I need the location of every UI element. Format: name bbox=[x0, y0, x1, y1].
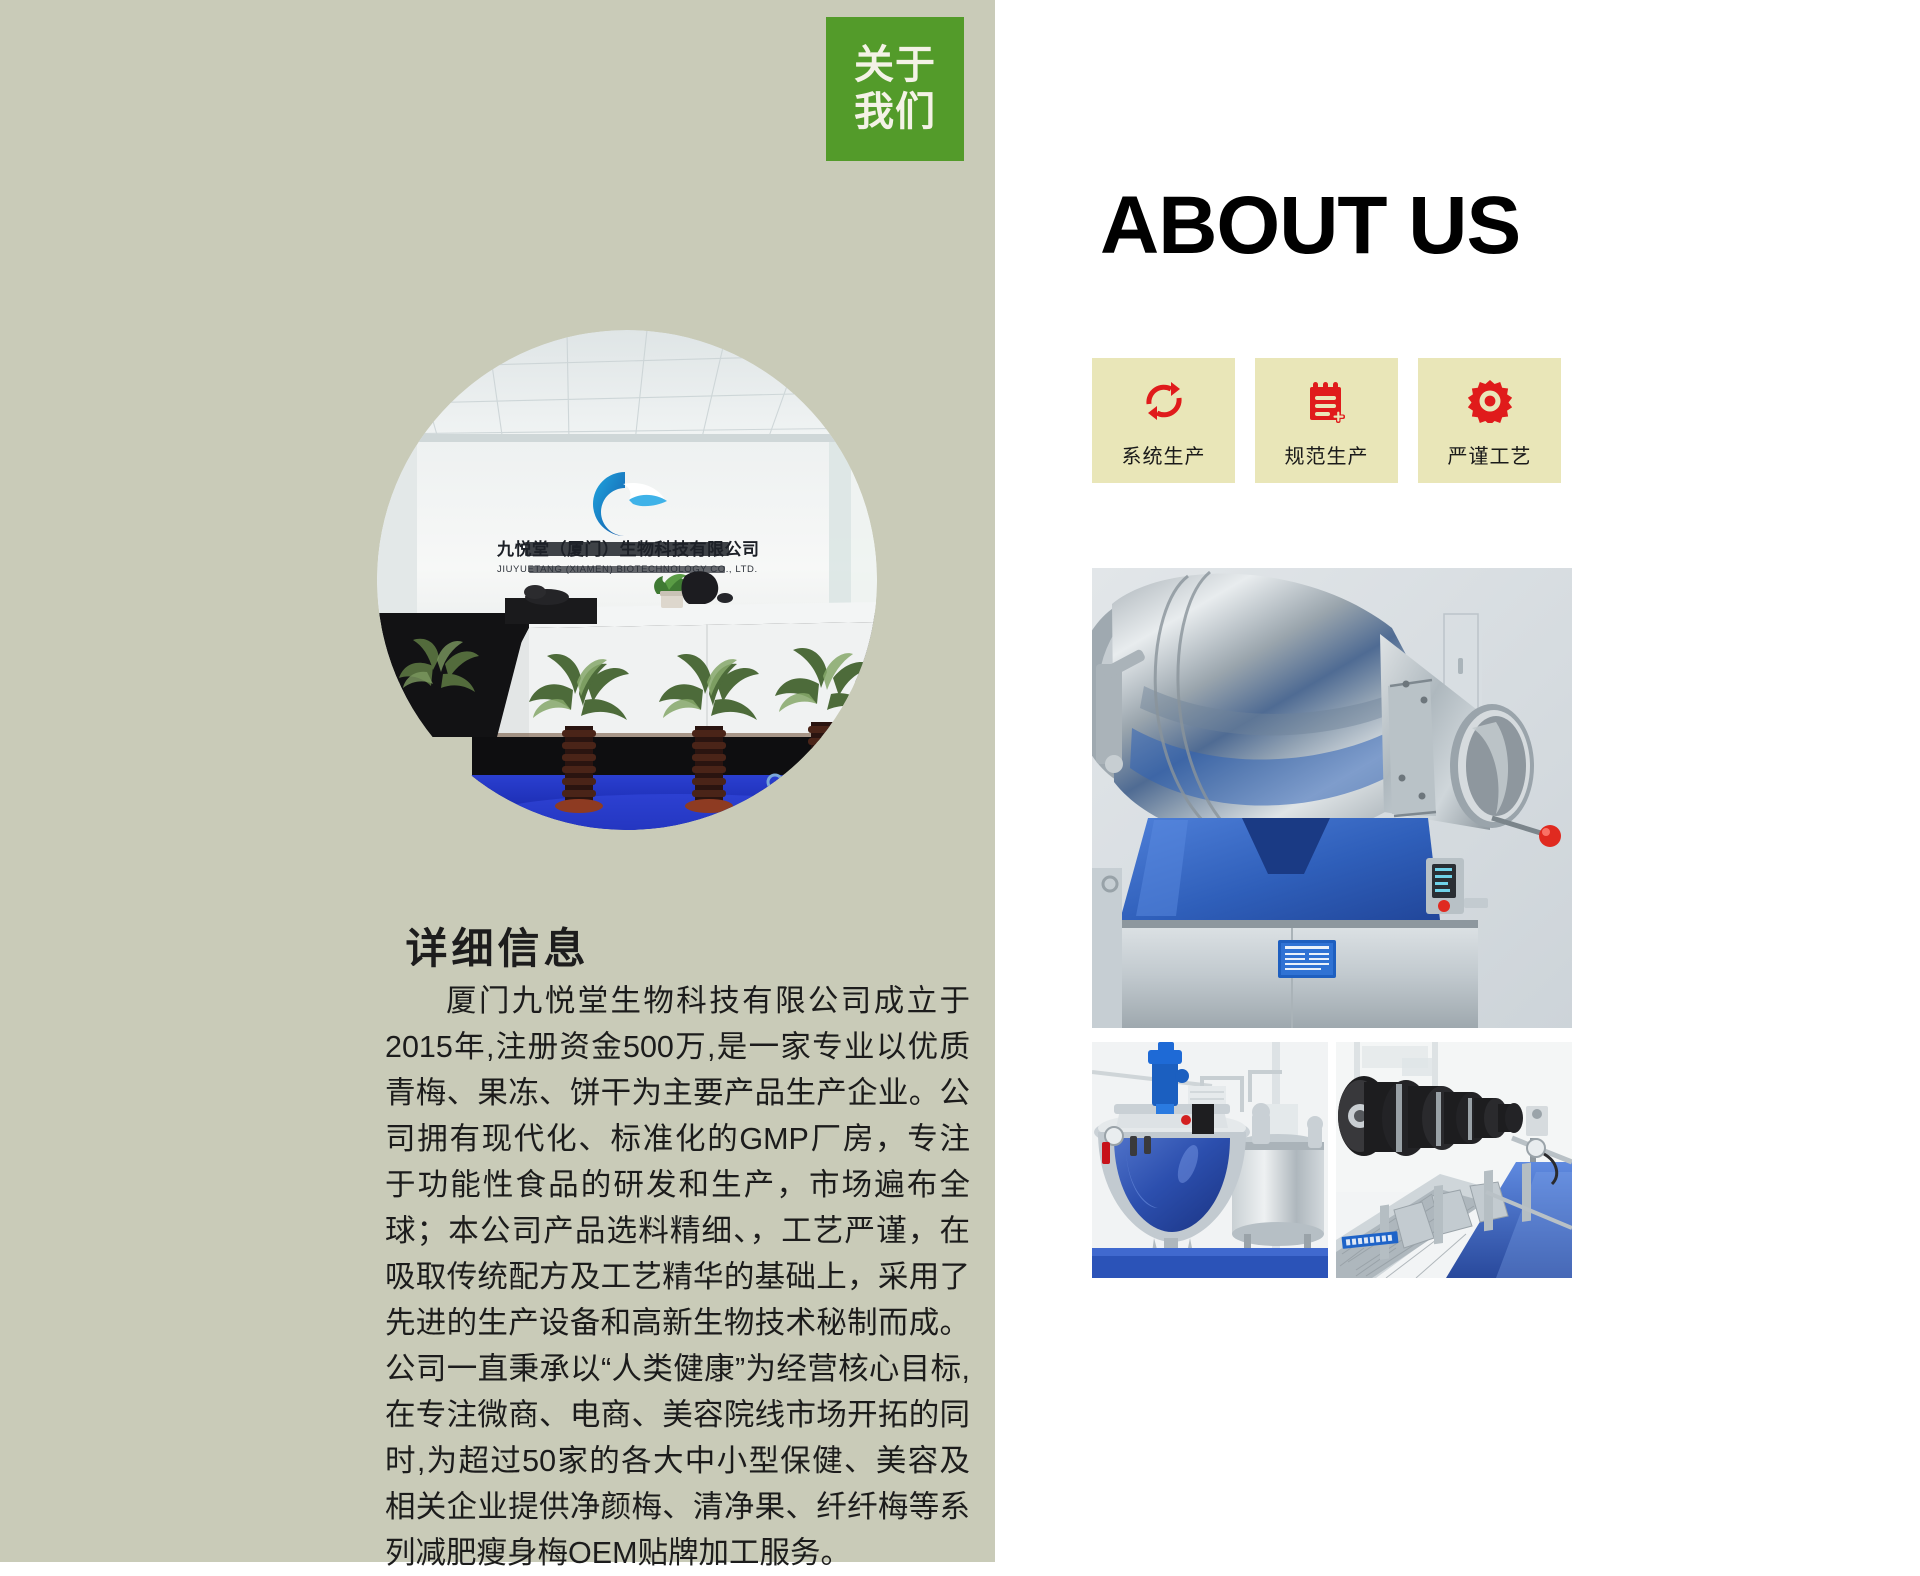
company-description-text: 厦门九悦堂生物科技有限公司成立于2015年,注册资金500万,是一家专业以优质青… bbox=[385, 978, 970, 1576]
stainless-steel-mixer-photo bbox=[1092, 568, 1572, 1028]
about-tag-line1: 关于 bbox=[854, 42, 936, 89]
tank-photo-graphic bbox=[1092, 1042, 1328, 1278]
about-us-title: ABOUT US bbox=[1100, 185, 1520, 267]
office-reception-photo: 九悦堂（厦门）生物科技有限公司 JIUYUETANG (XIAMEN) BIOT… bbox=[377, 330, 877, 830]
feature-badge-systematic-production[interactable]: 系统生产 bbox=[1092, 358, 1235, 483]
blue-mixing-tank-photo bbox=[1092, 1042, 1328, 1278]
about-us-tag-cn: 关于 我们 bbox=[826, 17, 964, 161]
feature-label-0: 系统生产 bbox=[1122, 440, 1206, 469]
conveyor-drying-line-photo bbox=[1336, 1042, 1572, 1278]
feature-badge-standard-production[interactable]: 规范生产 bbox=[1255, 358, 1398, 483]
detail-info-heading: 详细信息 bbox=[0, 915, 995, 976]
reception-photo-graphic bbox=[377, 330, 877, 830]
gear-icon bbox=[1465, 376, 1515, 426]
feature-badges-row: 系统生产 bbox=[1092, 358, 1561, 483]
feature-label-1: 规范生产 bbox=[1285, 440, 1369, 469]
about-tag-line2: 我们 bbox=[854, 89, 936, 136]
left-beige-panel: 关于 我们 bbox=[0, 0, 995, 1562]
feature-badge-rigorous-craft[interactable]: 严谨工艺 bbox=[1418, 358, 1561, 483]
refresh-sync-icon bbox=[1139, 376, 1189, 426]
feature-label-2: 严谨工艺 bbox=[1448, 440, 1532, 469]
mixer-photo-graphic bbox=[1092, 568, 1572, 1028]
conveyor-photo-graphic bbox=[1336, 1042, 1572, 1278]
notepad-plus-icon bbox=[1302, 376, 1352, 426]
